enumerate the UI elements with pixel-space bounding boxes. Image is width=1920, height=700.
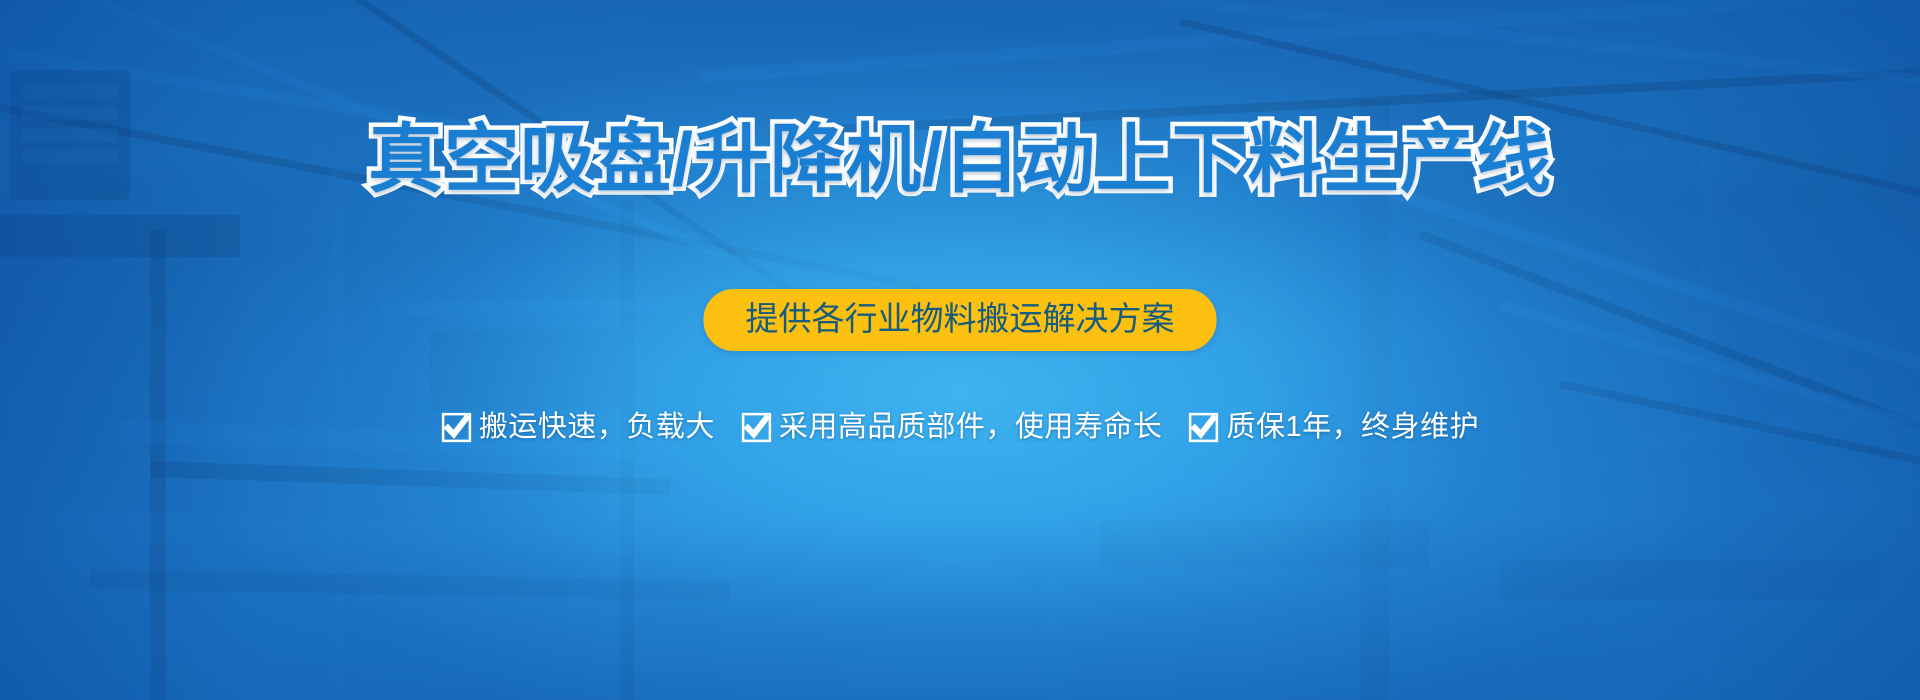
hero-banner: 真空吸盘/升降机/自动上下料生产线 提供各行业物料搬运解决方案 搬运快速，负载大… bbox=[0, 0, 1920, 700]
banner-title: 真空吸盘/升降机/自动上下料生产线 bbox=[0, 122, 1920, 197]
feature-item: 搬运快速，负载大 bbox=[441, 412, 715, 443]
checkbox-check-icon bbox=[441, 412, 472, 443]
banner-subtitle-pill: 提供各行业物料搬运解决方案 bbox=[704, 289, 1217, 351]
feature-item: 采用高品质部件，使用寿命长 bbox=[741, 412, 1163, 443]
feature-label: 质保1年，终身维护 bbox=[1226, 413, 1479, 442]
checkbox-check-icon bbox=[741, 412, 772, 443]
checkbox-check-icon bbox=[1188, 412, 1219, 443]
feature-item: 质保1年，终身维护 bbox=[1188, 412, 1479, 443]
feature-label: 采用高品质部件，使用寿命长 bbox=[779, 413, 1163, 442]
feature-list: 搬运快速，负载大 采用高品质部件，使用寿命长 质保1年，终身维护 bbox=[0, 412, 1920, 443]
banner-content: 真空吸盘/升降机/自动上下料生产线 提供各行业物料搬运解决方案 搬运快速，负载大… bbox=[0, 0, 1920, 700]
feature-label: 搬运快速，负载大 bbox=[479, 413, 715, 442]
